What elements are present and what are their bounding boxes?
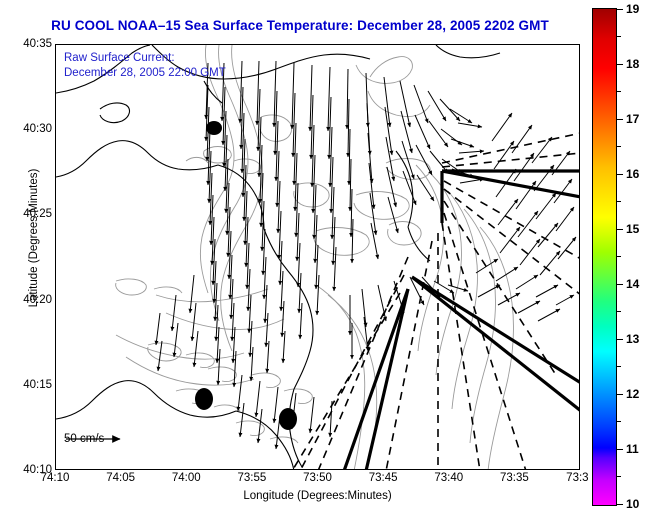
x-tick: 74:05 xyxy=(106,472,135,484)
colorbar-label: 14 xyxy=(626,277,639,291)
colorbar-tick xyxy=(617,229,623,230)
colorbar-label: 16 xyxy=(626,167,639,181)
figure-title: RU COOL NOAA–15 Sea Surface Temperature:… xyxy=(0,18,600,33)
colorbar-tick xyxy=(617,449,623,450)
x-axis-tick-labels: 74:10 74:05 74:00 73:55 73:50 73:45 73:4… xyxy=(55,472,580,490)
colorbar-tick xyxy=(617,174,623,175)
colorbar-tick xyxy=(617,64,623,65)
colorbar-label: 18 xyxy=(626,57,639,71)
sst-map-figure: RU COOL NOAA–15 Sea Surface Temperature:… xyxy=(0,0,651,519)
x-tick: 73:40 xyxy=(434,472,463,484)
annotation-line-2: December 28, 2005 22:00 GMT xyxy=(64,66,226,81)
colorbar-minor-tick xyxy=(617,366,621,367)
colorbar-minor-tick xyxy=(617,146,621,147)
annotation-line-1: Raw Surface Current: xyxy=(64,51,226,66)
colorbar-tick xyxy=(617,284,623,285)
map-plot-area: Raw Surface Current: December 28, 2005 2… xyxy=(55,44,580,470)
scale-bar-arrow-icon xyxy=(64,433,130,445)
x-tick: 73:3 xyxy=(566,472,588,484)
colorbar-label: 15 xyxy=(626,222,639,236)
x-tick: 74:10 xyxy=(41,472,70,484)
colorbar-tick xyxy=(617,339,623,340)
x-tick: 73:50 xyxy=(303,472,332,484)
colorbar-tick xyxy=(617,9,623,10)
temperature-colorbar xyxy=(592,8,617,506)
x-tick: 73:35 xyxy=(500,472,529,484)
colorbar-label: 10 xyxy=(626,497,639,511)
raw-surface-current-annotation: Raw Surface Current: December 28, 2005 2… xyxy=(64,51,226,81)
colorbar-minor-tick xyxy=(617,476,621,477)
y-tick: 40:35 xyxy=(23,38,52,50)
colorbar-label: 13 xyxy=(626,332,639,346)
radar-coverage-wedges xyxy=(344,171,580,470)
colorbar-minor-tick xyxy=(617,36,621,37)
y-axis-tick-labels: 40:35 40:30 40:25 40:20 40:15 40:10 xyxy=(0,44,52,470)
x-tick: 73:45 xyxy=(369,472,398,484)
colorbar-minor-tick xyxy=(617,421,621,422)
colorbar-tick xyxy=(617,119,623,120)
y-axis-title: Latitude (Degrees:Minutes) xyxy=(28,118,40,358)
colorbar-minor-tick xyxy=(617,201,621,202)
surface-current-vectors xyxy=(156,61,576,449)
x-tick: 73:55 xyxy=(237,472,266,484)
coastline xyxy=(56,45,500,470)
sst-contours xyxy=(116,45,514,470)
colorbar-label: 19 xyxy=(626,2,639,16)
map-canvas xyxy=(56,45,580,470)
vector-scale-bar: 50 cm/s xyxy=(64,433,104,447)
y-tick: 40:15 xyxy=(23,379,52,391)
colorbar-minor-tick xyxy=(617,91,621,92)
colorbar-tick xyxy=(617,394,623,395)
colorbar-minor-tick xyxy=(617,311,621,312)
x-axis-title: Longitude (Degrees:Minutes) xyxy=(55,490,580,502)
colorbar-tick xyxy=(617,504,623,505)
colorbar-label: 11 xyxy=(626,442,639,456)
colorbar-label: 12 xyxy=(626,387,639,401)
colorbar-minor-tick xyxy=(617,256,621,257)
x-tick: 74:00 xyxy=(172,472,201,484)
colorbar-label: 17 xyxy=(626,112,639,126)
